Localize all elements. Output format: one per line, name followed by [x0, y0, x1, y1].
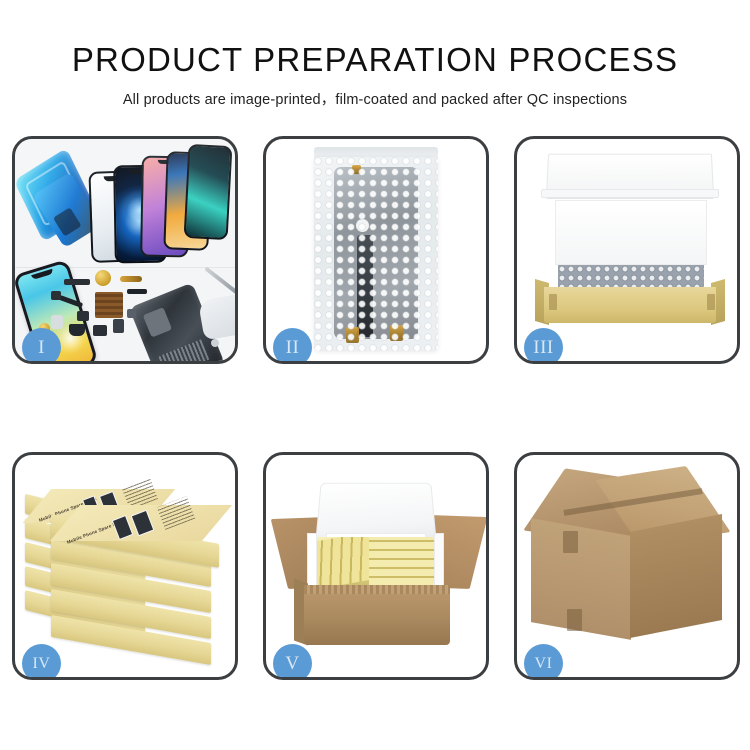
- sim-tray-icon: [113, 319, 124, 333]
- box-tab-right-icon: [707, 294, 715, 310]
- screw-small-icon: [211, 339, 219, 347]
- step-badge-6: VI: [524, 644, 563, 680]
- flex-cable-amber-icon: [120, 276, 142, 282]
- foam-wall-right-icon: [434, 533, 444, 589]
- screw-component-icon: [127, 309, 136, 318]
- carton-face-right-icon: [630, 514, 722, 638]
- step-3-illustration: [517, 139, 737, 361]
- process-step-panel-1[interactable]: I: [12, 136, 238, 364]
- box-tab-left-icon: [549, 294, 557, 310]
- small-chip-icon: [51, 291, 61, 300]
- process-step-grid: I II: [12, 136, 740, 680]
- foam-wall-left-icon: [307, 533, 317, 589]
- process-step-panel-2[interactable]: II: [263, 136, 489, 364]
- process-step-panel-5[interactable]: V: [263, 452, 489, 680]
- yellow-boxes-icon: [313, 537, 437, 585]
- circuit-board-icon: [95, 292, 123, 318]
- bubble-fill-icon: [558, 265, 704, 289]
- header: PRODUCT PREPARATION PROCESS All products…: [0, 0, 750, 109]
- corner-tab-bottom-icon: [567, 609, 582, 631]
- step-badge-4: IV: [22, 644, 61, 680]
- battery-component-icon: [51, 315, 63, 329]
- phone-display-teal-icon: [184, 144, 233, 240]
- step-5-illustration: [266, 455, 486, 677]
- process-step-panel-6[interactable]: VI: [514, 452, 740, 680]
- step-4-illustration: Mobile Phone Spare Parts Mobile Phone Sp…: [15, 455, 235, 677]
- product-preparation-infographic: PRODUCT PREPARATION PROCESS All products…: [0, 0, 750, 750]
- bubble-texture-icon: [314, 157, 438, 351]
- box-lid-lip-icon: [541, 189, 719, 198]
- step-badge-3: III: [524, 328, 563, 364]
- page-title: PRODUCT PREPARATION PROCESS: [0, 41, 750, 79]
- earpiece-component-icon: [64, 279, 90, 285]
- white-foam-sheet-icon: [555, 200, 707, 265]
- bracket-component-icon: [93, 325, 107, 336]
- step-1-illustration: [15, 139, 235, 361]
- page-subtitle: All products are image-printed，film-coat…: [0, 88, 750, 109]
- retail-box-stack-icon: Mobile Phone Spare Parts Mobile Phone Sp…: [23, 473, 233, 665]
- step-badge-5: V: [273, 644, 312, 680]
- vibrator-component-icon: [69, 324, 85, 336]
- carton-corrugation-icon: [304, 585, 450, 594]
- process-step-panel-3[interactable]: III: [514, 136, 740, 364]
- carton-front-icon: [304, 585, 450, 645]
- kraft-box-front-icon: [544, 287, 716, 323]
- step-2-illustration: [266, 139, 486, 361]
- step-badge-1: I: [22, 328, 61, 364]
- step-6-illustration: [517, 455, 737, 677]
- speaker-component-icon: [95, 270, 111, 286]
- step-badge-2: II: [273, 328, 312, 364]
- bubble-bag-icon: [314, 157, 438, 351]
- camera-module-icon: [77, 311, 89, 321]
- process-step-panel-4[interactable]: Mobile Phone Spare Parts Mobile Phone Sp…: [12, 452, 238, 680]
- corner-tab-top-icon: [563, 531, 578, 553]
- flex-cable-icon: [127, 289, 147, 294]
